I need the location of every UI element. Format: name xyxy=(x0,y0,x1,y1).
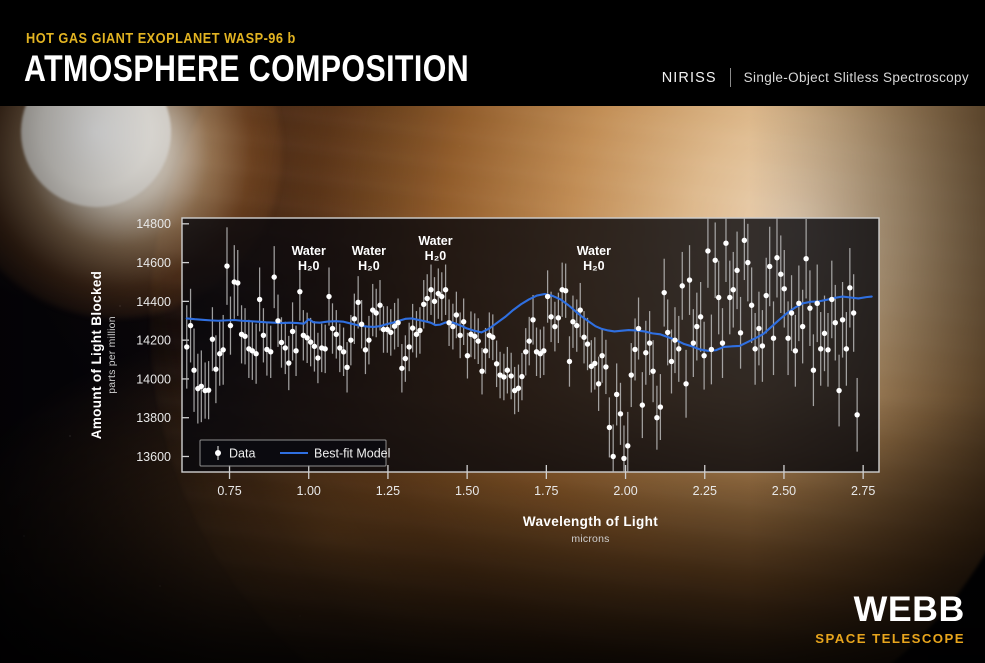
data-point xyxy=(334,332,339,337)
data-point xyxy=(661,290,666,295)
poster-root: HOT GAS GIANT EXOPLANET WASP-96 b ATMOSP… xyxy=(0,0,985,663)
data-point xyxy=(556,315,561,320)
data-point xyxy=(844,346,849,351)
data-point xyxy=(767,264,772,269)
x-tick-label: 2.75 xyxy=(851,484,875,498)
data-point xyxy=(607,425,612,430)
y-tick-label: 14200 xyxy=(136,334,171,348)
data-point xyxy=(235,280,240,285)
data-point xyxy=(807,305,812,310)
data-point xyxy=(337,345,342,350)
data-point xyxy=(286,360,291,365)
data-point xyxy=(683,381,688,386)
data-point xyxy=(341,349,346,354)
data-point xyxy=(694,324,699,329)
data-point xyxy=(716,295,721,300)
data-point xyxy=(417,328,422,333)
annotation-water-label: Water xyxy=(352,244,386,258)
data-point xyxy=(184,344,189,349)
data-point xyxy=(220,347,225,352)
data-point xyxy=(355,300,360,305)
data-point xyxy=(465,353,470,358)
data-point xyxy=(348,337,353,342)
data-point xyxy=(377,303,382,308)
data-point xyxy=(242,334,247,339)
data-point xyxy=(778,272,783,277)
data-point xyxy=(206,387,211,392)
data-point xyxy=(290,329,295,334)
data-point xyxy=(680,283,685,288)
data-point xyxy=(625,443,630,448)
data-point xyxy=(224,263,229,268)
annotation-water-label: Water xyxy=(577,244,611,258)
data-point xyxy=(454,312,459,317)
y-tick-label: 13600 xyxy=(136,450,171,464)
annotation-molecule-label: H₂0 xyxy=(358,259,380,273)
data-point xyxy=(785,336,790,341)
data-point xyxy=(304,335,309,340)
data-point xyxy=(647,340,652,345)
data-point xyxy=(253,351,258,356)
data-point xyxy=(629,372,634,377)
data-point xyxy=(596,381,601,386)
data-point xyxy=(548,314,553,319)
data-point xyxy=(658,404,663,409)
data-point xyxy=(654,415,659,420)
data-point xyxy=(523,349,528,354)
data-point xyxy=(709,347,714,352)
data-point xyxy=(701,353,706,358)
data-point xyxy=(359,322,364,327)
data-point xyxy=(727,295,732,300)
data-point xyxy=(552,324,557,329)
annotation-water-label: Water xyxy=(292,244,326,258)
annotation-water-label: Water xyxy=(418,234,452,248)
data-point xyxy=(541,348,546,353)
data-point xyxy=(665,330,670,335)
data-point xyxy=(472,334,477,339)
y-axis-title: Amount of Light Blocked xyxy=(89,271,104,440)
data-point xyxy=(745,260,750,265)
webb-logo-subtitle: SPACE TELESCOPE xyxy=(815,632,965,645)
webb-logo: WEBB SPACE TELESCOPE xyxy=(815,592,965,645)
data-point xyxy=(840,317,845,322)
data-point xyxy=(268,349,273,354)
chart-legend[interactable]: DataBest-fit Model xyxy=(200,440,390,466)
data-point xyxy=(315,355,320,360)
data-point xyxy=(756,326,761,331)
data-point xyxy=(210,336,215,341)
data-point xyxy=(308,339,313,344)
data-point xyxy=(851,310,856,315)
data-point xyxy=(527,338,532,343)
x-axis-units: microns xyxy=(571,533,609,545)
data-point xyxy=(796,301,801,306)
y-axis: 13600138001400014200144001460014800 xyxy=(136,217,189,464)
legend-label-model: Best-fit Model xyxy=(314,446,390,460)
data-point xyxy=(406,344,411,349)
data-point xyxy=(545,294,550,299)
data-point xyxy=(439,294,444,299)
webb-logo-wordmark: WEBB xyxy=(812,592,965,627)
data-point xyxy=(764,293,769,298)
data-point xyxy=(519,374,524,379)
data-point xyxy=(836,388,841,393)
data-point xyxy=(366,337,371,342)
data-point xyxy=(293,348,298,353)
data-point xyxy=(592,361,597,366)
data-point xyxy=(752,346,757,351)
data-point xyxy=(570,319,575,324)
data-point xyxy=(578,307,583,312)
data-point xyxy=(283,345,288,350)
data-point xyxy=(610,454,615,459)
data-point xyxy=(705,248,710,253)
data-point xyxy=(516,386,521,391)
header-divider xyxy=(730,68,731,87)
data-point xyxy=(323,346,328,351)
data-point xyxy=(603,364,608,369)
data-point xyxy=(713,258,718,263)
x-axis-title: Wavelength of Light xyxy=(523,514,658,529)
data-point xyxy=(494,361,499,366)
data-point xyxy=(425,296,430,301)
data-point xyxy=(446,320,451,325)
data-point xyxy=(585,341,590,346)
data-point xyxy=(326,294,331,299)
data-point xyxy=(374,310,379,315)
data-point xyxy=(457,333,462,338)
data-point xyxy=(432,299,437,304)
data-point xyxy=(640,402,645,407)
y-tick-label: 13800 xyxy=(136,411,171,425)
plot-background xyxy=(182,218,879,472)
data-point xyxy=(476,338,481,343)
data-point xyxy=(789,310,794,315)
data-point xyxy=(632,347,637,352)
annotation-molecule-label: H₂0 xyxy=(583,259,605,273)
data-point xyxy=(734,268,739,273)
data-point xyxy=(774,255,779,260)
x-tick-label: 1.00 xyxy=(297,484,321,498)
data-point xyxy=(636,326,641,331)
data-point xyxy=(563,288,568,293)
data-point xyxy=(530,317,535,322)
data-point xyxy=(297,289,302,294)
data-point xyxy=(676,346,681,351)
data-point xyxy=(257,297,262,302)
header-bar: HOT GAS GIANT EXOPLANET WASP-96 b ATMOSP… xyxy=(0,0,985,106)
data-point xyxy=(669,359,674,364)
data-point xyxy=(410,325,415,330)
data-point xyxy=(312,344,317,349)
data-point xyxy=(581,335,586,340)
x-tick-label: 2.25 xyxy=(693,484,717,498)
data-point xyxy=(508,373,513,378)
y-tick-label: 14400 xyxy=(136,295,171,309)
data-point xyxy=(399,366,404,371)
data-point xyxy=(720,340,725,345)
data-point xyxy=(698,314,703,319)
legend-label-data: Data xyxy=(229,446,255,460)
instrument-info: NIRISS Single-Object Slitless Spectrosco… xyxy=(662,68,969,87)
data-point xyxy=(483,348,488,353)
data-point xyxy=(330,326,335,331)
data-point xyxy=(461,319,466,324)
data-point xyxy=(618,411,623,416)
x-tick-label: 2.00 xyxy=(613,484,637,498)
data-point xyxy=(760,343,765,348)
data-point xyxy=(847,285,852,290)
x-tick-label: 1.25 xyxy=(376,484,400,498)
data-point xyxy=(428,287,433,292)
observing-mode: Single-Object Slitless Spectroscopy xyxy=(744,70,969,85)
data-point xyxy=(691,340,696,345)
data-point xyxy=(749,303,754,308)
data-point xyxy=(363,347,368,352)
data-point xyxy=(275,318,280,323)
data-point xyxy=(672,337,677,342)
data-point xyxy=(854,412,859,417)
data-point xyxy=(803,256,808,261)
data-point xyxy=(188,323,193,328)
data-point xyxy=(650,368,655,373)
data-point xyxy=(723,241,728,246)
x-tick-label: 0.75 xyxy=(217,484,241,498)
y-tick-label: 14000 xyxy=(136,372,171,386)
annotation-molecule-label: H₂0 xyxy=(425,249,447,263)
instrument-name: NIRISS xyxy=(662,70,717,86)
data-point xyxy=(687,277,692,282)
data-point xyxy=(505,368,510,373)
annotation-molecule-label: H₂0 xyxy=(298,259,320,273)
data-point xyxy=(199,384,204,389)
data-point xyxy=(450,324,455,329)
y-tick-label: 14800 xyxy=(136,217,171,231)
data-point xyxy=(822,331,827,336)
data-point xyxy=(490,335,495,340)
data-point xyxy=(443,287,448,292)
data-point xyxy=(818,346,823,351)
y-axis-units: parts per million xyxy=(106,316,118,394)
data-point xyxy=(574,323,579,328)
data-point xyxy=(388,330,393,335)
data-point xyxy=(279,340,284,345)
data-point xyxy=(599,353,604,358)
data-point xyxy=(403,356,408,361)
x-tick-label: 1.50 xyxy=(455,484,479,498)
data-point xyxy=(771,336,776,341)
data-point xyxy=(825,347,830,352)
y-tick-label: 14600 xyxy=(136,256,171,270)
header-eyebrow: HOT GAS GIANT EXOPLANET WASP-96 b xyxy=(26,31,296,47)
data-point xyxy=(261,333,266,338)
data-point xyxy=(742,238,747,243)
data-point xyxy=(479,368,484,373)
data-point xyxy=(731,287,736,292)
page-title: ATMOSPHERE COMPOSITION xyxy=(24,50,469,89)
data-point xyxy=(395,320,400,325)
data-point xyxy=(567,359,572,364)
data-point xyxy=(833,320,838,325)
data-point xyxy=(811,368,816,373)
data-point xyxy=(815,301,820,306)
data-point xyxy=(614,392,619,397)
data-point xyxy=(421,302,426,307)
data-point xyxy=(352,316,357,321)
data-point xyxy=(501,374,506,379)
data-point xyxy=(800,324,805,329)
data-point xyxy=(344,365,349,370)
x-tick-label: 2.50 xyxy=(772,484,796,498)
x-tick-label: 1.75 xyxy=(534,484,558,498)
data-point xyxy=(793,348,798,353)
data-point xyxy=(782,286,787,291)
data-point xyxy=(643,350,648,355)
data-point xyxy=(213,367,218,372)
data-point xyxy=(738,330,743,335)
data-point xyxy=(271,274,276,279)
data-point xyxy=(621,456,626,461)
data-point xyxy=(191,368,196,373)
data-point xyxy=(829,297,834,302)
data-point xyxy=(228,323,233,328)
